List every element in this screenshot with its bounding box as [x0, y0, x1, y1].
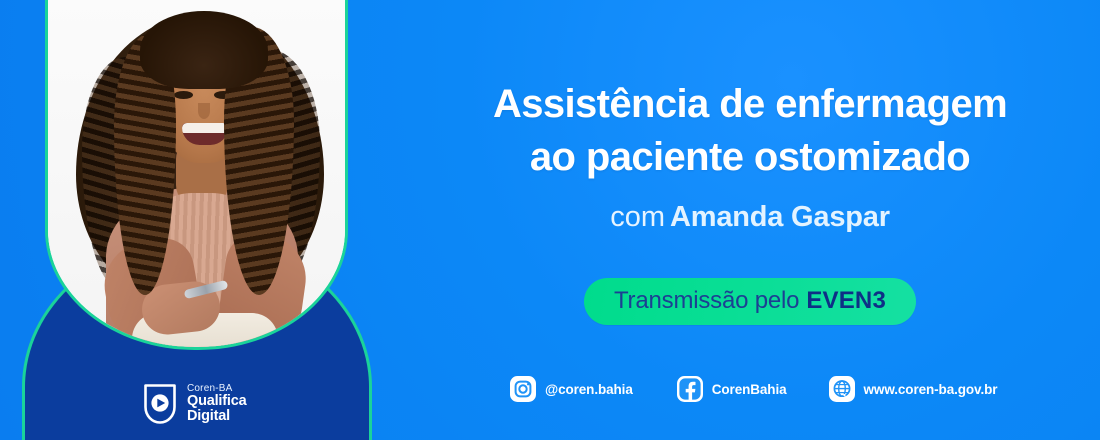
qualifica-digital-logo: Coren-BA Qualifica Digital — [143, 383, 246, 425]
globe-icon — [829, 376, 855, 402]
contact-facebook[interactable]: CorenBahia — [677, 376, 787, 402]
speaker-prefix: com — [610, 201, 665, 233]
contact-website-label: www.coren-ba.gov.br — [864, 382, 998, 397]
left-visual-panel: Coren-BA Qualifica Digital — [0, 0, 400, 440]
instagram-icon — [510, 376, 536, 402]
cta-row: Transmissão peloEVEN3 — [400, 278, 1100, 325]
logo-line-2: Digital — [187, 409, 246, 424]
title-line-2: ao paciente ostomizado — [400, 131, 1100, 184]
contact-instagram-label: @coren.bahia — [545, 382, 633, 397]
speaker-credit: comAmanda Gaspar — [400, 200, 1100, 235]
contact-instagram[interactable]: @coren.bahia — [510, 376, 633, 402]
logo-wordmark: Coren-BA Qualifica Digital — [187, 384, 246, 425]
broadcast-cta-button[interactable]: Transmissão peloEVEN3 — [584, 278, 916, 325]
contact-facebook-label: CorenBahia — [712, 382, 787, 397]
page-title: Assistência de enfermagem ao paciente os… — [400, 78, 1100, 184]
speaker-photo — [48, 0, 345, 347]
logo-line-1: Qualifica — [187, 394, 246, 409]
content-panel: Assistência de enfermagem ao paciente os… — [400, 0, 1100, 440]
cta-brand-label: EVEN3 — [806, 287, 886, 314]
photo-eye-left — [174, 91, 193, 99]
contact-website[interactable]: www.coren-ba.gov.br — [829, 376, 998, 402]
contact-bar: @coren.bahia CorenBahia — [510, 376, 997, 402]
photo-teeth — [182, 123, 228, 133]
photo-nose — [198, 103, 210, 119]
speaker-name: Amanda Gaspar — [670, 201, 890, 233]
speaker-photo-frame — [45, 0, 348, 350]
cta-label: Transmissão pelo — [614, 287, 799, 314]
event-banner: Coren-BA Qualifica Digital Assistência d… — [0, 0, 1100, 440]
facebook-icon — [677, 376, 703, 402]
photo-hair-crown — [140, 11, 268, 89]
title-line-1: Assistência de enfermagem — [400, 78, 1100, 131]
shield-play-icon — [143, 383, 177, 425]
